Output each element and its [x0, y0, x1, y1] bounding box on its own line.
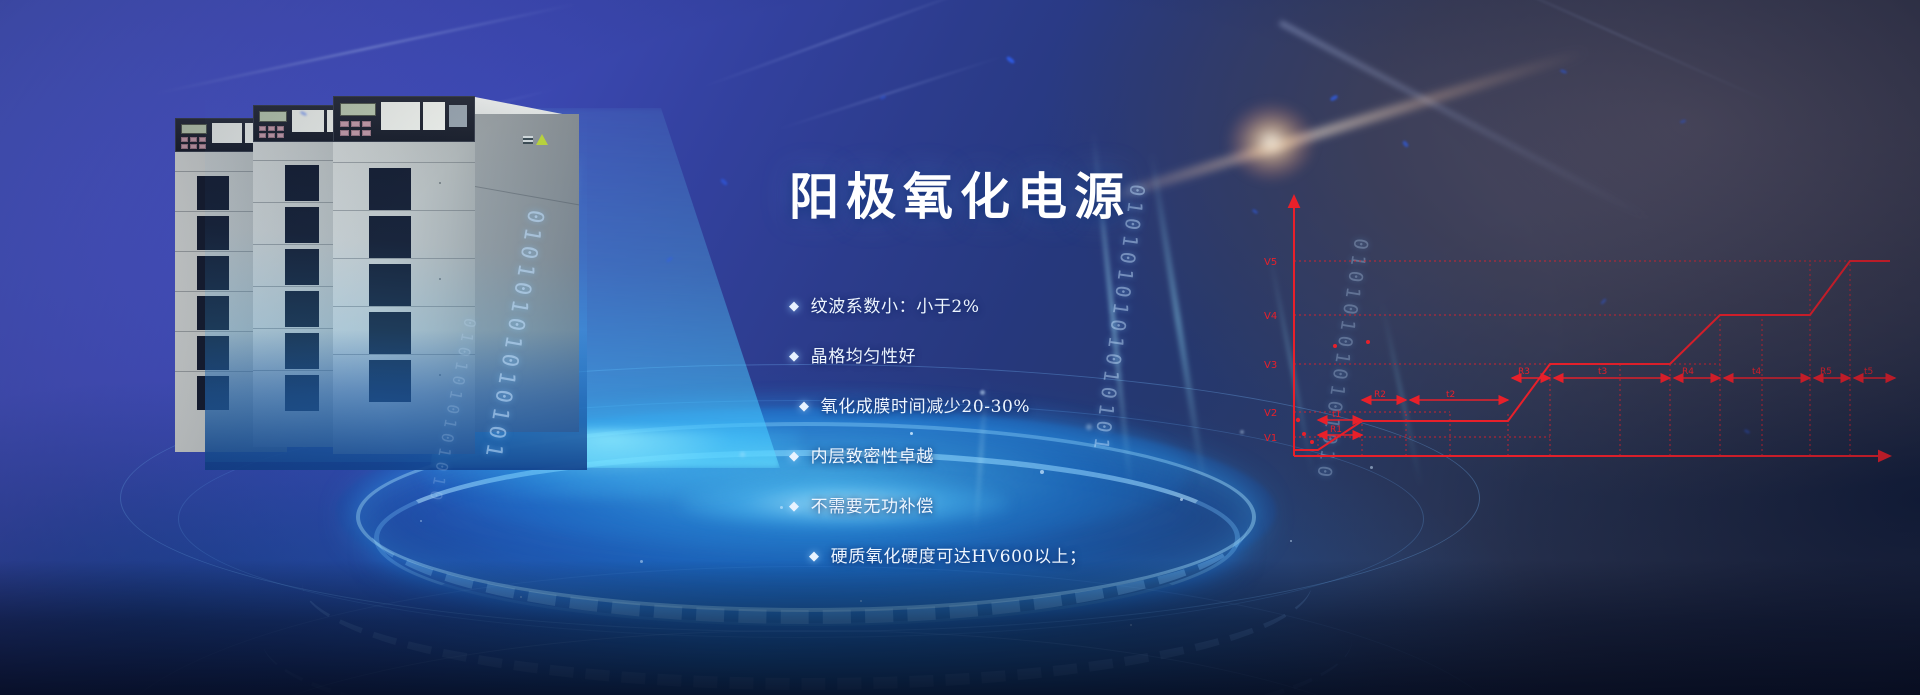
- high-voltage-triangle-icon: [523, 134, 549, 148]
- banner-canvas: 01010101010101 0101010101010101 01010101…: [0, 0, 1920, 695]
- chart-dropline-group: [1318, 261, 1850, 456]
- feature-text: 内层致密性卓越: [811, 442, 934, 467]
- light-streak-5: [1445, 0, 1775, 105]
- control-label-card-2: [423, 102, 445, 130]
- list-item: ◆ 内层致密性卓越: [789, 442, 1309, 492]
- keypad-key[interactable]: [351, 130, 360, 136]
- keypad-key[interactable]: [351, 121, 360, 127]
- voltage-time-chart-svg: V1 V2 V3 V4 V5 R1 t1 R2 t2 R3 t3 R4 t4 R…: [1250, 188, 1920, 488]
- page-title: 阳极氧化电源: [789, 172, 1131, 222]
- chart-gridlines: [1294, 261, 1890, 437]
- light-streak-4: [776, 55, 1005, 131]
- label-t5: t5: [1864, 367, 1873, 377]
- diamond-bullet-icon: ◆: [789, 300, 800, 313]
- label-t3: t3: [1598, 367, 1607, 377]
- label-r4: R4: [1682, 367, 1694, 377]
- floor-shadow: [0, 560, 1920, 695]
- list-item: ◆ 纹波系数小：小于2%: [789, 292, 1309, 342]
- chart-measure-arrows: [1318, 378, 1895, 435]
- chart-series-line: [1294, 261, 1890, 450]
- diamond-bullet-icon: ◆: [789, 500, 800, 513]
- keypad-key[interactable]: [340, 130, 349, 136]
- cabinet-front-panel[interactable]: [333, 96, 475, 142]
- y-tick-v5: V5: [1264, 257, 1277, 268]
- feature-text: 晶格均匀性好: [811, 342, 917, 367]
- list-item: ◆ 不需要无功补偿: [789, 492, 1309, 542]
- list-item: ◆ 氧化成膜时间减少20-30%: [799, 392, 1309, 442]
- feature-text: 不需要无功补偿: [811, 492, 934, 517]
- voltage-time-chart: V1 V2 V3 V4 V5 R1 t1 R2 t2 R3 t3 R4 t4 R…: [1250, 188, 1920, 488]
- label-r5: R5: [1820, 367, 1832, 377]
- label-r3: R3: [1518, 367, 1530, 377]
- cabinet-bottom-fade: [205, 330, 587, 470]
- feature-text: 纹波系数小：小于2%: [811, 292, 980, 317]
- label-t4: t4: [1752, 367, 1762, 377]
- chart-axes: [1294, 196, 1890, 456]
- label-t2: t2: [1446, 390, 1455, 400]
- control-lcd-display: [340, 103, 376, 116]
- label-r2: R2: [1374, 390, 1386, 400]
- diamond-bullet-icon: ◆: [789, 450, 800, 463]
- label-r1: R1: [1330, 425, 1342, 435]
- keypad-key[interactable]: [362, 130, 371, 136]
- list-item: ◆ 晶格均匀性好: [789, 342, 1309, 392]
- diamond-bullet-icon: ◆: [799, 400, 810, 413]
- control-label-card-1: [381, 102, 420, 130]
- keypad-key[interactable]: [340, 121, 349, 127]
- feature-list: ◆ 纹波系数小：小于2% ◆ 晶格均匀性好 ◆ 氧化成膜时间减少20-30% ◆…: [789, 292, 1309, 592]
- label-t1: t1: [1332, 410, 1341, 420]
- diamond-bullet-icon: ◆: [789, 350, 800, 363]
- lens-flare-core: [1228, 103, 1314, 181]
- light-streak-1: [154, 3, 575, 94]
- feature-text: 氧化成膜时间减少20-30%: [821, 392, 1031, 417]
- control-meter: [449, 105, 467, 127]
- keypad-key[interactable]: [362, 121, 371, 127]
